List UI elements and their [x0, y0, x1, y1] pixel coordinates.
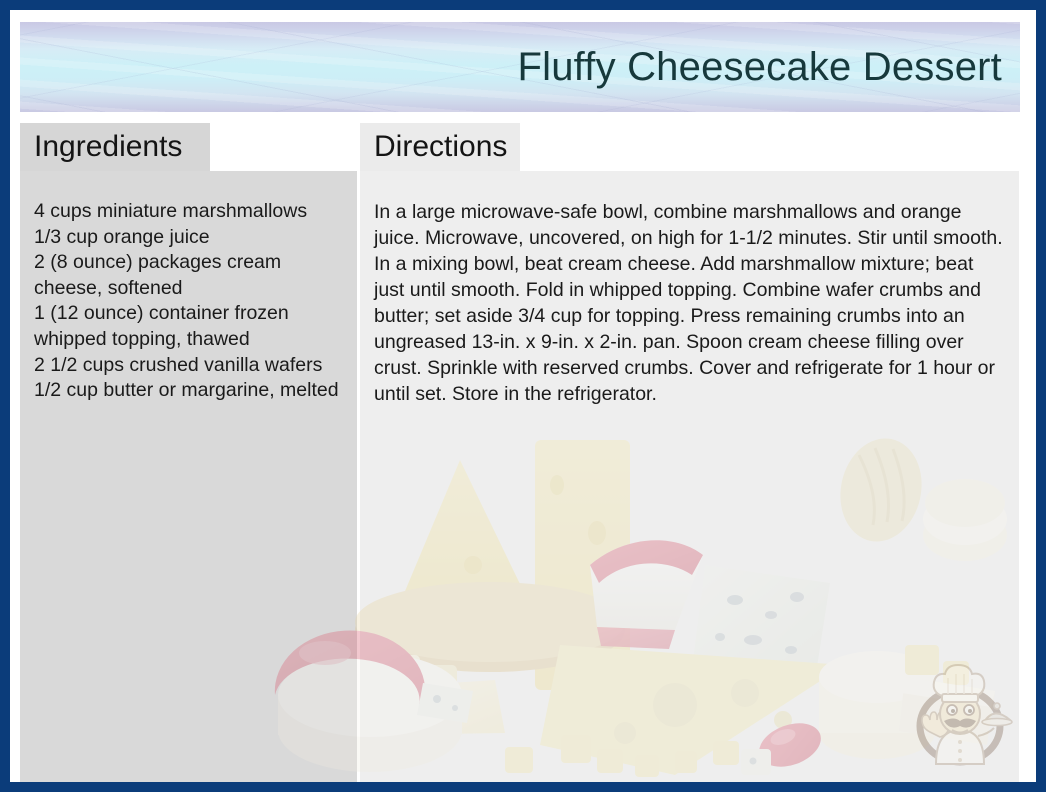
chef-with-cloche-logo [900, 652, 1020, 772]
ingredients-heading: Ingredients [34, 132, 182, 162]
list-item: 1/2 cup butter or margarine, melted [34, 378, 343, 404]
title-banner: Fluffy Cheesecake Dessert [20, 22, 1020, 112]
slide-canvas: Fluffy Cheesecake Dessert Ingredients 4 … [10, 10, 1036, 782]
ingredients-panel: Ingredients 4 cups miniature marshmallow… [20, 123, 357, 782]
directions-text: In a large microwave-safe bowl, combine … [374, 199, 1005, 407]
list-item: 2 1/2 cups crushed vanilla wafers [34, 353, 343, 379]
recipe-slide: Fluffy Cheesecake Dessert Ingredients 4 … [0, 0, 1046, 792]
ingredients-heading-tab: Ingredients [20, 123, 210, 171]
ingredients-list: 4 cups miniature marshmallows 1/3 cup or… [34, 199, 343, 404]
list-item: 4 cups miniature marshmallows [34, 199, 343, 225]
list-item: 2 (8 ounce) packages cream cheese, softe… [34, 250, 343, 301]
list-item: 1 (12 ounce) container frozen whipped to… [34, 301, 343, 352]
directions-heading-tab: Directions [360, 123, 520, 171]
directions-heading: Directions [374, 132, 507, 162]
list-item: 1/3 cup orange juice [34, 225, 343, 251]
ingredients-body: 4 cups miniature marshmallows 1/3 cup or… [20, 171, 357, 782]
page-title: Fluffy Cheesecake Dessert [518, 46, 1002, 88]
